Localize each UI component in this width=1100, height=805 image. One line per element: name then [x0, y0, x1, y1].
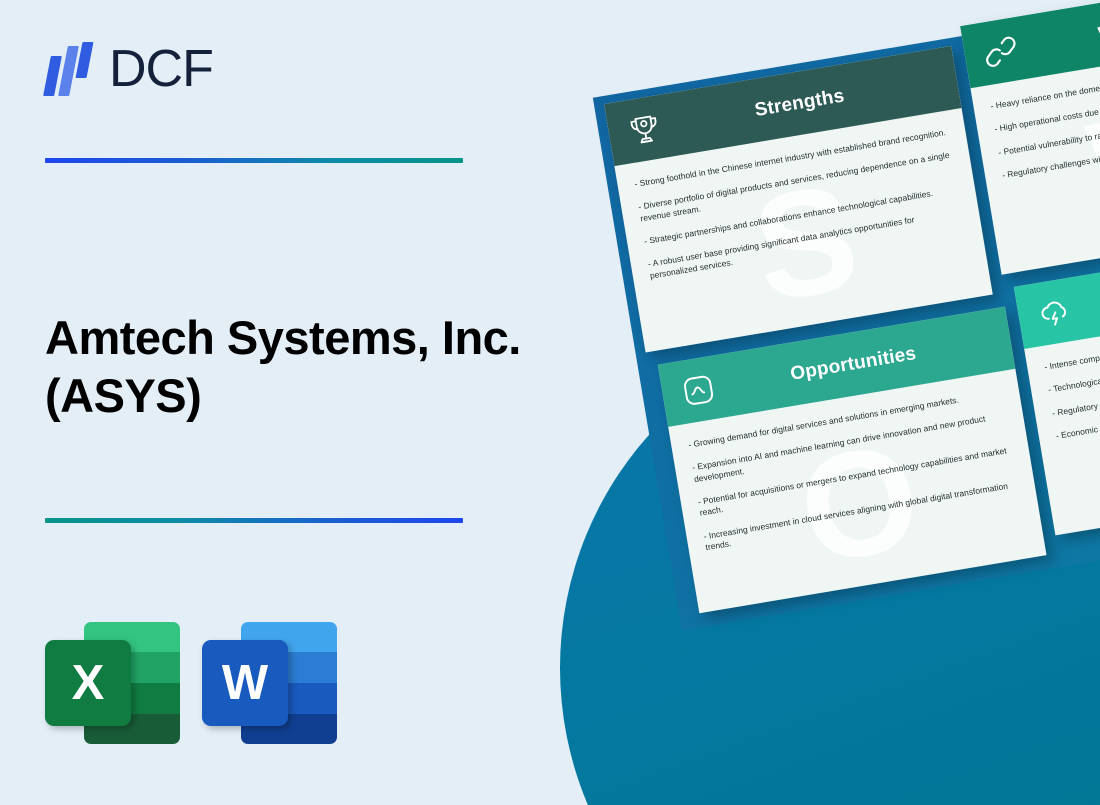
page-title: Amtech Systems, Inc. (ASYS) — [45, 309, 545, 424]
divider-bottom — [45, 518, 463, 523]
left-panel: DCF Amtech Systems, Inc. (ASYS) X W — [0, 0, 560, 805]
storm-cloud-icon — [1034, 291, 1075, 332]
filetype-icons: X W — [45, 622, 337, 744]
trend-chart-icon — [678, 369, 719, 410]
trophy-icon — [624, 108, 665, 149]
slide-canvas: SWOT ANALYSIS — [0, 0, 1100, 805]
excel-file-icon[interactable]: X — [45, 622, 180, 744]
dcf-logo[interactable]: DCF — [45, 42, 213, 96]
word-letter-badge: W — [202, 640, 288, 726]
divider-top — [45, 158, 463, 163]
word-file-icon[interactable]: W — [202, 622, 337, 744]
chain-link-icon — [980, 31, 1021, 72]
swot-board: Strengths S Strong foothold in the Chine… — [604, 0, 1100, 617]
excel-letter-badge: X — [45, 640, 131, 726]
dcf-bars-logo-icon — [45, 42, 95, 96]
brand-wordmark: DCF — [109, 43, 213, 95]
